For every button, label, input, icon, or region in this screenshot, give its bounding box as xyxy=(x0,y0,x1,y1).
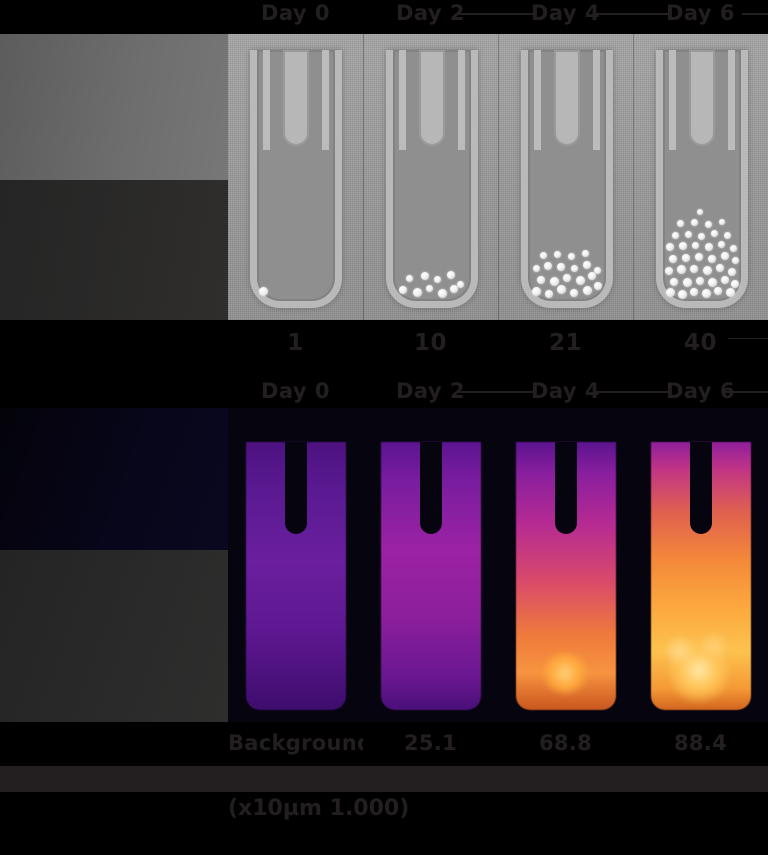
intensity-value-day0: Background xyxy=(228,724,363,762)
microchannel-arm-right xyxy=(728,50,735,150)
fluorescence-hotspot xyxy=(699,632,729,660)
spheroid xyxy=(705,221,712,228)
spheroid xyxy=(682,254,690,262)
microchannel-arm-left xyxy=(263,50,270,150)
fluorescence-tile-day0 xyxy=(228,408,363,722)
fluorescence-legend-block xyxy=(0,408,228,722)
spheroid xyxy=(447,271,455,279)
spheroid xyxy=(724,232,731,239)
spheroid xyxy=(557,263,565,271)
spheroid xyxy=(678,290,687,299)
microchannel-post xyxy=(689,50,715,146)
connector-2-left-top xyxy=(498,13,536,15)
brightfield-image-panel xyxy=(0,34,768,320)
microchannel-post xyxy=(419,50,445,146)
day-label-2-top: Day 4 xyxy=(498,0,633,28)
day-label-1-bottom: Day 2 xyxy=(363,376,498,406)
connector-2-right-top xyxy=(593,13,633,15)
day-label-3-bottom: Day 6 xyxy=(633,376,768,406)
spheroid xyxy=(695,253,703,261)
day-label-2-bottom-text: Day 4 xyxy=(531,379,600,403)
intensity-value-day2: 25.1 xyxy=(363,724,498,762)
spheroid xyxy=(554,251,561,258)
spheroid xyxy=(457,281,464,288)
spheroid xyxy=(533,265,540,272)
spheroid-cluster-day6 xyxy=(663,152,741,302)
figure-container: Day 0 Day 2 Day 4 Day 6 xyxy=(0,0,768,855)
brightfield-legend-block xyxy=(0,34,228,320)
spheroid xyxy=(730,245,737,252)
spheroid-cluster-day0 xyxy=(257,182,335,302)
fluorescence-intensity-row: Background 25.1 68.8 88.4 xyxy=(0,724,768,762)
connector-3-left-top xyxy=(633,13,669,15)
connector-1-bottom xyxy=(456,391,498,393)
spheroid-count-day2: 10 xyxy=(363,322,498,364)
spheroid xyxy=(721,276,729,284)
fluorescence-image-panel xyxy=(0,408,768,722)
fluorescence-chamber-notch xyxy=(690,442,712,534)
spheroid xyxy=(731,280,739,288)
spheroid xyxy=(732,257,739,264)
spheroid xyxy=(705,243,713,251)
spheroid xyxy=(702,289,711,298)
spheroid xyxy=(692,242,699,249)
spheroid xyxy=(690,265,698,273)
spheroid xyxy=(406,275,413,282)
spheroid-count-row: 1 10 21 40 xyxy=(0,322,768,364)
brightfield-tile-day2 xyxy=(363,34,498,320)
spheroid xyxy=(583,286,592,295)
spheroid xyxy=(413,288,422,297)
day-label-0-top: Day 0 xyxy=(228,0,363,28)
spheroid xyxy=(677,265,686,274)
spheroid xyxy=(665,267,673,275)
day-label-2-bottom: Day 4 xyxy=(498,376,633,406)
scale-note: (x10µm 1.000) xyxy=(228,793,388,825)
day-label-1-bottom-text: Day 2 xyxy=(396,379,465,403)
spheroid xyxy=(399,286,407,294)
intensity-value-day6: 88.4 xyxy=(633,724,768,762)
day-label-3-top: Day 6 xyxy=(633,0,768,28)
spheroid xyxy=(666,288,675,297)
day-label-0-bottom: Day 0 xyxy=(228,376,363,406)
spheroid-count-day6: 40 xyxy=(633,322,768,364)
spheroid xyxy=(726,288,735,297)
brightfield-day-label-row: Day 0 Day 2 Day 4 Day 6 xyxy=(0,0,768,28)
fluorescence-tile-strip xyxy=(228,408,768,722)
spheroid xyxy=(691,219,698,226)
day-label-3-top-text: Day 6 xyxy=(666,1,735,25)
spheroid xyxy=(698,233,705,240)
spheroid xyxy=(677,220,684,227)
intensity-value-day4: 68.8 xyxy=(498,724,633,762)
spheroid xyxy=(544,262,552,270)
fluorescence-tile-day4 xyxy=(498,408,633,722)
spheroid xyxy=(670,278,678,286)
fluorescence-legend-upper-dark xyxy=(0,408,228,550)
microchannel-arm-left xyxy=(669,50,676,150)
spheroid xyxy=(557,285,566,294)
spheroid-cluster-day4 xyxy=(528,182,606,302)
spheroid-count-day0: 1 xyxy=(228,322,363,364)
spheroid xyxy=(582,250,589,257)
microchannel-arm-right xyxy=(322,50,329,150)
spheroid xyxy=(721,252,729,260)
microchannel-post xyxy=(283,50,309,146)
spheroid-count-day6-text: 40 xyxy=(684,330,717,356)
spheroid xyxy=(421,272,429,280)
spheroid xyxy=(683,278,692,287)
fluorescence-tile-day2 xyxy=(363,408,498,722)
spheroid xyxy=(568,253,575,260)
spheroid xyxy=(669,255,677,263)
spheroid xyxy=(697,209,703,215)
spheroid xyxy=(576,276,585,285)
spheroid xyxy=(426,285,433,292)
spheroid xyxy=(532,287,541,296)
fluorescence-hotspot xyxy=(663,636,697,666)
spheroid xyxy=(719,219,725,225)
microchannel-arm-left xyxy=(399,50,406,150)
day-label-1-top: Day 2 xyxy=(363,0,498,28)
spheroid xyxy=(711,230,718,237)
spheroid-cluster-day2 xyxy=(393,182,471,302)
spheroid xyxy=(696,277,704,285)
microchannel-arm-right xyxy=(458,50,465,150)
spheroid xyxy=(708,255,716,263)
spheroid-count-day4: 21 xyxy=(498,322,633,364)
legend-upper-grey xyxy=(0,34,228,180)
microchannel-arm-left xyxy=(534,50,541,150)
fluorescence-chamber-notch xyxy=(285,442,307,534)
microchannel-post xyxy=(554,50,580,146)
spheroid xyxy=(563,274,571,282)
spheroid xyxy=(703,266,712,275)
spheroid xyxy=(666,243,674,251)
connector-3-right-bottom xyxy=(724,391,768,393)
connector-3-left-bottom xyxy=(633,391,669,393)
legend-lower-dark xyxy=(0,180,228,320)
spheroid xyxy=(728,268,736,276)
fluorescence-chamber-notch xyxy=(420,442,442,534)
connector-2-left-bottom xyxy=(498,391,536,393)
spheroid xyxy=(545,290,553,298)
connector-3-right-top xyxy=(742,13,768,15)
fluorescence-legend-lower-grey xyxy=(0,550,228,722)
connector-2-right-bottom xyxy=(593,391,633,393)
microchannel-arm-right xyxy=(593,50,600,150)
spheroid xyxy=(583,261,591,269)
fluorescence-day-label-row: Day 0 Day 2 Day 4 Day 6 xyxy=(0,372,768,406)
fluorescence-hotspot xyxy=(542,652,588,694)
spheroid xyxy=(685,231,692,238)
spheroid xyxy=(672,232,679,239)
spheroid xyxy=(594,267,601,274)
brightfield-tile-day6 xyxy=(633,34,768,320)
spheroid xyxy=(571,265,578,272)
spheroid xyxy=(679,242,687,250)
spheroid xyxy=(438,289,447,298)
spheroid xyxy=(434,276,441,283)
day-label-2-top-text: Day 4 xyxy=(531,1,600,25)
spheroid xyxy=(550,277,559,286)
spheroid xyxy=(714,287,722,295)
connector-1-top xyxy=(456,13,498,15)
spheroid xyxy=(259,287,268,296)
fluorescence-chamber-notch xyxy=(555,442,577,534)
spheroid xyxy=(718,241,725,248)
spheroid xyxy=(594,282,602,290)
brightfield-tile-day0 xyxy=(228,34,363,320)
fluorescence-tile-day6 xyxy=(633,408,768,722)
spheroid xyxy=(690,288,698,296)
spheroid xyxy=(540,252,547,259)
spheroid xyxy=(537,276,545,284)
caption-band-clipped xyxy=(0,766,768,792)
day-label-1-top-text: Day 2 xyxy=(396,1,465,25)
brightfield-tile-day4 xyxy=(498,34,633,320)
connector-count-right xyxy=(728,338,768,339)
spheroid xyxy=(708,278,717,287)
brightfield-tile-strip xyxy=(228,34,768,320)
spheroid xyxy=(716,264,724,272)
spheroid xyxy=(570,289,578,297)
